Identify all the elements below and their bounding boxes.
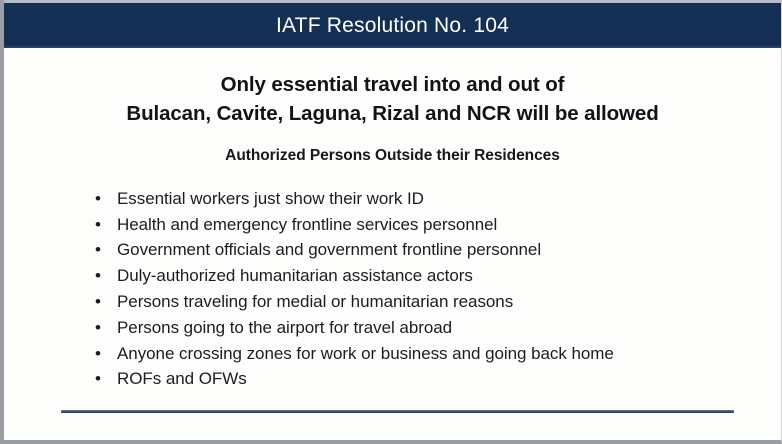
list-item: • Government officials and government fr…: [4, 237, 781, 263]
bullet-icon: •: [95, 237, 109, 263]
list-item-label: Persons going to the airport for travel …: [117, 318, 452, 337]
bullet-icon: •: [95, 263, 109, 289]
list-item-label: Persons traveling for medial or humanita…: [117, 292, 513, 311]
list-item: • Persons going to the airport for trave…: [4, 315, 781, 341]
list-item: • Anyone crossing zones for work or busi…: [4, 341, 781, 367]
authorized-persons-list: • Essential workers just show their work…: [4, 166, 781, 392]
list-item: • Persons traveling for medial or humani…: [4, 289, 781, 315]
headline: Only essential travel into and out of Bu…: [4, 48, 781, 128]
bullet-icon: •: [95, 315, 109, 341]
list-item: • Health and emergency frontline service…: [4, 212, 781, 238]
slide-header-bar: IATF Resolution No. 104: [4, 3, 781, 48]
bullet-icon: •: [95, 289, 109, 315]
footer-divider: [61, 410, 734, 413]
bullet-icon: •: [95, 366, 109, 392]
bullet-icon: •: [95, 212, 109, 238]
list-item-label: Essential workers just show their work I…: [117, 189, 424, 208]
headline-line-1: Only essential travel into and out of: [64, 70, 721, 99]
list-item-label: Government officials and government fron…: [117, 240, 541, 259]
page-title: IATF Resolution No. 104: [276, 15, 509, 36]
list-item: • ROFs and OFWs: [4, 366, 781, 392]
list-item-label: Duly-authorized humanitarian assistance …: [117, 266, 473, 285]
subheading: Authorized Persons Outside their Residen…: [4, 128, 781, 166]
list-item: • Essential workers just show their work…: [4, 186, 781, 212]
slide-frame: IATF Resolution No. 104 Only essential t…: [0, 0, 782, 444]
slide-body: Only essential travel into and out of Bu…: [4, 48, 781, 440]
headline-line-2: Bulacan, Cavite, Laguna, Rizal and NCR w…: [64, 99, 721, 128]
list-item-label: ROFs and OFWs: [117, 369, 247, 388]
bullet-icon: •: [95, 186, 109, 212]
list-item: • Duly-authorized humanitarian assistanc…: [4, 263, 781, 289]
list-item-label: Anyone crossing zones for work or busine…: [117, 344, 614, 363]
bullet-icon: •: [95, 341, 109, 367]
list-item-label: Health and emergency frontline services …: [117, 215, 497, 234]
